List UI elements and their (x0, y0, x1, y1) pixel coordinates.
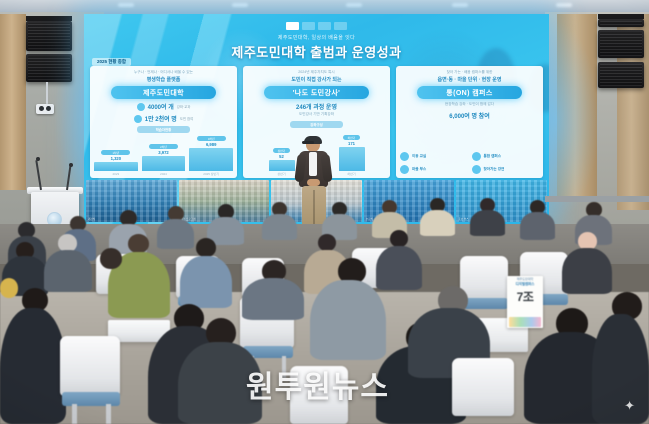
ceiling-light (118, 3, 134, 7)
card3-item-label: 마을 부스 (412, 167, 426, 172)
photo-scene: 제주도민대학, 일상의 배움을 잇다 제주도민대학 출범과 운영성과 2025 … (0, 0, 649, 424)
right-speaker-top (598, 30, 644, 58)
audience-person (376, 246, 422, 290)
slide-badge: 2025 현황 종합 (92, 58, 131, 66)
bar-label: 2024 (160, 172, 167, 176)
card3-sub2: 읍면·동 · 마을 단위 · 현장 운영 (400, 76, 539, 83)
ceiling-light (346, 3, 362, 7)
bar-pill: 2차년 (149, 144, 178, 149)
ceiling-light (556, 3, 572, 7)
card3-pill: 통(ON) 캠퍼스 (417, 86, 523, 99)
card1-stat1-number: 4000여 개 (148, 102, 174, 111)
card3-item: 통합 캠퍼스 (472, 152, 540, 161)
left-speaker-bottom (26, 54, 72, 82)
audience-person (44, 250, 92, 292)
screen-tab-3 (318, 22, 331, 30)
bar (269, 160, 295, 171)
card2-sub: 2024년 제주자치도 특시 (247, 70, 386, 75)
audience-person (242, 278, 304, 320)
stage-icon (472, 165, 481, 174)
card3-item-label: 통합 캠퍼스 (484, 154, 502, 159)
presenter-shirt (309, 152, 317, 176)
book-icon (137, 103, 145, 111)
card1-sub2: 평생학습 플랫폼 (94, 76, 233, 83)
van-icon (400, 152, 409, 161)
wood-column-left (0, 14, 26, 190)
ptz-camera-icon (36, 104, 54, 114)
card3-item-label: 찾아가는 강연 (484, 167, 505, 172)
bar-column: 상반기 52 상반기 (269, 148, 295, 176)
audience-head (100, 248, 122, 269)
card2-pill-label: '나도 도민강사' (293, 88, 341, 98)
ceiling-light (452, 3, 468, 7)
presenter-hands (307, 179, 320, 186)
audience-person-front (0, 308, 66, 424)
screen-tabs (84, 22, 549, 30)
slide-title: 제주도민대학 출범과 운영성과 (84, 42, 549, 61)
card3-stat1-unit: 현장학습 강좌 · 도민이 함께 갑다 (400, 102, 539, 107)
card1-stat2-unit: 도민 참여 (180, 116, 193, 121)
bar-label: 2025 상반기 (203, 172, 219, 176)
campus-icon (472, 152, 481, 161)
audience-person-front (310, 280, 386, 360)
bar (94, 162, 138, 171)
ceiling-light (232, 3, 248, 7)
card1-sub: 누구나 · 언제나 · 어디서나 배울 수 있는 (94, 70, 233, 75)
card3-item: 이동 교실 (400, 152, 468, 161)
audience-person (562, 248, 612, 294)
village-icon (400, 165, 409, 174)
card3-type-grid: 이동 교실 통합 캠퍼스 마을 부스 찾아가는 강연 (400, 152, 539, 174)
left-speaker-top (26, 21, 72, 51)
camera-mount (46, 82, 48, 104)
audience-head (0, 278, 18, 298)
card3-pill-label: 통(ON) 캠퍼스 (446, 88, 492, 98)
bar-column: 2차년 3,972 2024 (142, 144, 186, 176)
wood-column-right (557, 14, 597, 202)
screen-tab-1 (286, 22, 299, 30)
audience-person (470, 210, 505, 236)
microphone-head (69, 163, 73, 167)
card1-stat-2: 1만 2천여 명 도민 참여 (94, 114, 233, 123)
bar-column: 3차년 6,989 2025 상반기 (189, 136, 233, 176)
table-sign-number: 7조 (517, 288, 534, 305)
card3-sub: 찾아 가는 · 배움 캠퍼스를 위한 (400, 70, 539, 75)
card2-sub2: 도민이 직접 강사가 되는 (247, 76, 386, 83)
table-sign-sub: 디지털캠퍼스 (516, 282, 535, 286)
bar-column: 1차년 1,320 2023 (94, 150, 138, 176)
bar-value: 52 (279, 154, 284, 159)
audience-person-front (592, 314, 649, 424)
bar (142, 156, 186, 171)
bar-value: 3,972 (158, 150, 168, 155)
slide-kicker: 제주도민대학, 일상의 배움을 잇다 (84, 34, 549, 41)
audience-head (390, 230, 408, 247)
card1-bar-chart: 1차년 1,320 2023 2차년 3,972 2024 3차년 6,989 (94, 136, 233, 176)
card3-item-label: 이동 교실 (412, 154, 426, 159)
audience-person (180, 256, 232, 308)
table-sign-artwork (509, 317, 541, 327)
right-speaker-bracket (598, 19, 644, 27)
slide-card-1: 누구나 · 언제나 · 어디서나 배울 수 있는 평생학습 플랫폼 제주도민대학… (90, 66, 237, 178)
card3-item: 마을 부스 (400, 165, 468, 174)
audience-head (318, 234, 336, 251)
bar-value: 171 (348, 141, 355, 146)
audience-area: 제주도민대학 디지털캠퍼스 9조 제주도민대학 디지털캠퍼스 7조 (0, 196, 649, 424)
audience-head (196, 238, 216, 257)
card1-stat-1: 4000여 개 강좌·교과 (94, 102, 233, 111)
audience-person (420, 210, 455, 236)
bar-pill: 3차년 (197, 136, 226, 141)
card2-stat1-number: 246개 과정 운영 (296, 102, 337, 111)
card1-pill-label: 제주도민대학 (143, 88, 184, 98)
card2-pill: '나도 도민강사' (264, 86, 370, 99)
microphone-head (36, 157, 40, 161)
bar (339, 147, 365, 171)
slide-card-3: 찾아 가는 · 배움 캠퍼스를 위한 읍면·동 · 마을 단위 · 현장 운영 … (396, 66, 543, 178)
screen-tab-4 (334, 22, 347, 30)
bar-pill: 상반기 (273, 148, 290, 153)
audience-person (520, 212, 555, 240)
bar-pill: 1차년 (101, 150, 130, 155)
card1-tag: 학습자현황 (137, 126, 190, 133)
table-sign-7: 제주도민대학 디지털캠퍼스 7조 (507, 276, 543, 328)
card3-stat-1: 6,000여 명 참여 (400, 111, 539, 120)
card2-tag: 강좌구성 (290, 121, 343, 128)
sparkle-icon: ✦ (624, 398, 635, 414)
bar (189, 148, 233, 171)
card2-stat-1: 246개 과정 운영 (247, 102, 386, 111)
card1-stat2-number: 1만 2천여 명 (145, 114, 177, 123)
bar-pill: 하반기 (343, 135, 360, 140)
bar-label: 상반기 (277, 172, 285, 176)
bar-value: 1,320 (111, 156, 121, 161)
card2-stat1-unit: 도민강사 기반 기획강좌 (247, 112, 386, 117)
bar-column: 하반기 171 하반기 (339, 135, 365, 176)
card2-tag-label: 강좌구성 (310, 122, 322, 127)
card1-stat1-unit: 강좌·교과 (177, 104, 191, 109)
audience-head (128, 234, 149, 253)
right-speaker-bottom (598, 62, 644, 88)
bar-value: 6,989 (206, 142, 216, 147)
bar-label: 하반기 (347, 172, 355, 176)
bar-label: 2023 (112, 172, 119, 176)
card1-tag-label: 학습자현황 (156, 127, 172, 132)
audience-person-front (178, 342, 262, 424)
card3-stat1-number: 6,000여 명 참여 (449, 111, 489, 120)
audience-person (157, 219, 194, 249)
screen-tab-2 (302, 22, 315, 30)
cap-icon (304, 136, 322, 144)
card3-item: 찾아가는 강연 (472, 165, 540, 174)
people-icon (134, 115, 142, 123)
card1-pill: 제주도민대학 (111, 86, 217, 99)
audience-person (262, 214, 297, 240)
